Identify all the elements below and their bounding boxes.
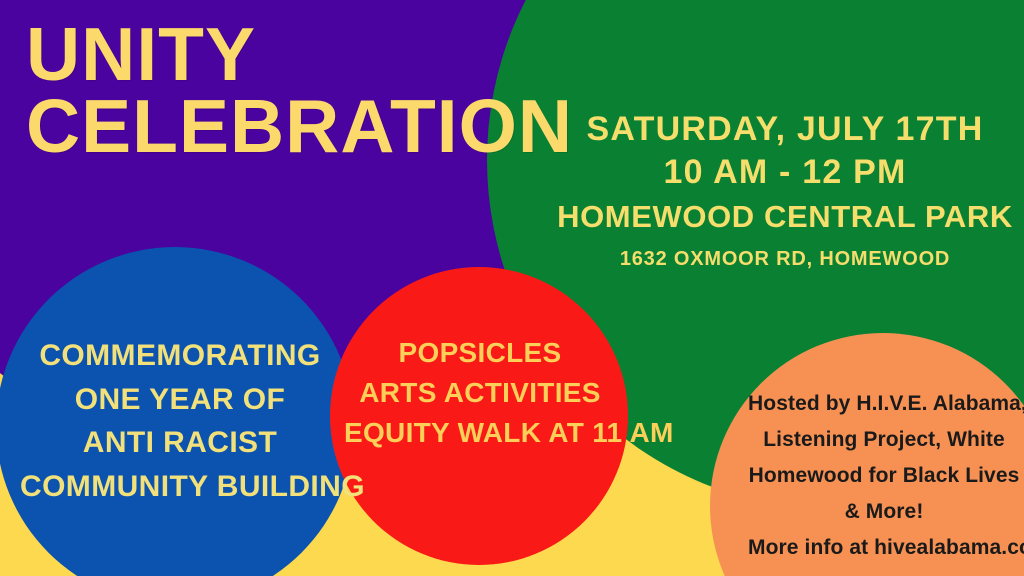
hosts-line-4: & More!	[748, 494, 1020, 530]
activity-arts: ARTS ACTIVITIES	[344, 373, 616, 413]
hosts-line-2: Listening Project, White	[748, 422, 1020, 458]
unity-celebration-poster: UNITY CELEBRATION SATURDAY, JULY 17TH 10…	[0, 0, 1024, 576]
hosts-website: More info at hivealabama.com	[748, 530, 1020, 566]
event-venue: HOMEWOOD CENTRAL PARK	[546, 194, 1024, 241]
event-date: SATURDAY, JULY 17TH	[546, 108, 1024, 151]
poster-title: UNITY CELEBRATION	[26, 18, 573, 162]
commemorate-line-4: COMMUNITY BUILDING	[20, 465, 340, 509]
event-address: 1632 OXMOOR RD, HOMEWOOD	[546, 240, 1024, 278]
hosts-line-1: Hosted by H.I.V.E. Alabama, The	[748, 386, 1020, 422]
event-time: 10 AM - 12 PM	[546, 151, 1024, 194]
activity-popsicles: POPSICLES	[344, 333, 616, 373]
commemorate-line-1: COMMEMORATING	[20, 334, 340, 378]
commemorate-line-2: ONE YEAR OF	[20, 378, 340, 422]
commemoration-message: COMMEMORATING ONE YEAR OF ANTI RACIST CO…	[20, 334, 340, 508]
activities-list: POPSICLES ARTS ACTIVITIES EQUITY WALK AT…	[344, 333, 616, 452]
event-details: SATURDAY, JULY 17TH 10 AM - 12 PM HOMEWO…	[546, 108, 1024, 278]
hosts-line-3: Homewood for Black Lives	[748, 458, 1020, 494]
activity-equity-walk: EQUITY WALK AT 11 AM	[344, 413, 616, 453]
title-line-celebration: CELEBRATION	[26, 90, 573, 162]
commemorate-line-3: ANTI RACIST	[20, 421, 340, 465]
hosts-credits: Hosted by H.I.V.E. Alabama, The Listenin…	[748, 386, 1020, 567]
title-line-unity: UNITY	[26, 18, 573, 90]
